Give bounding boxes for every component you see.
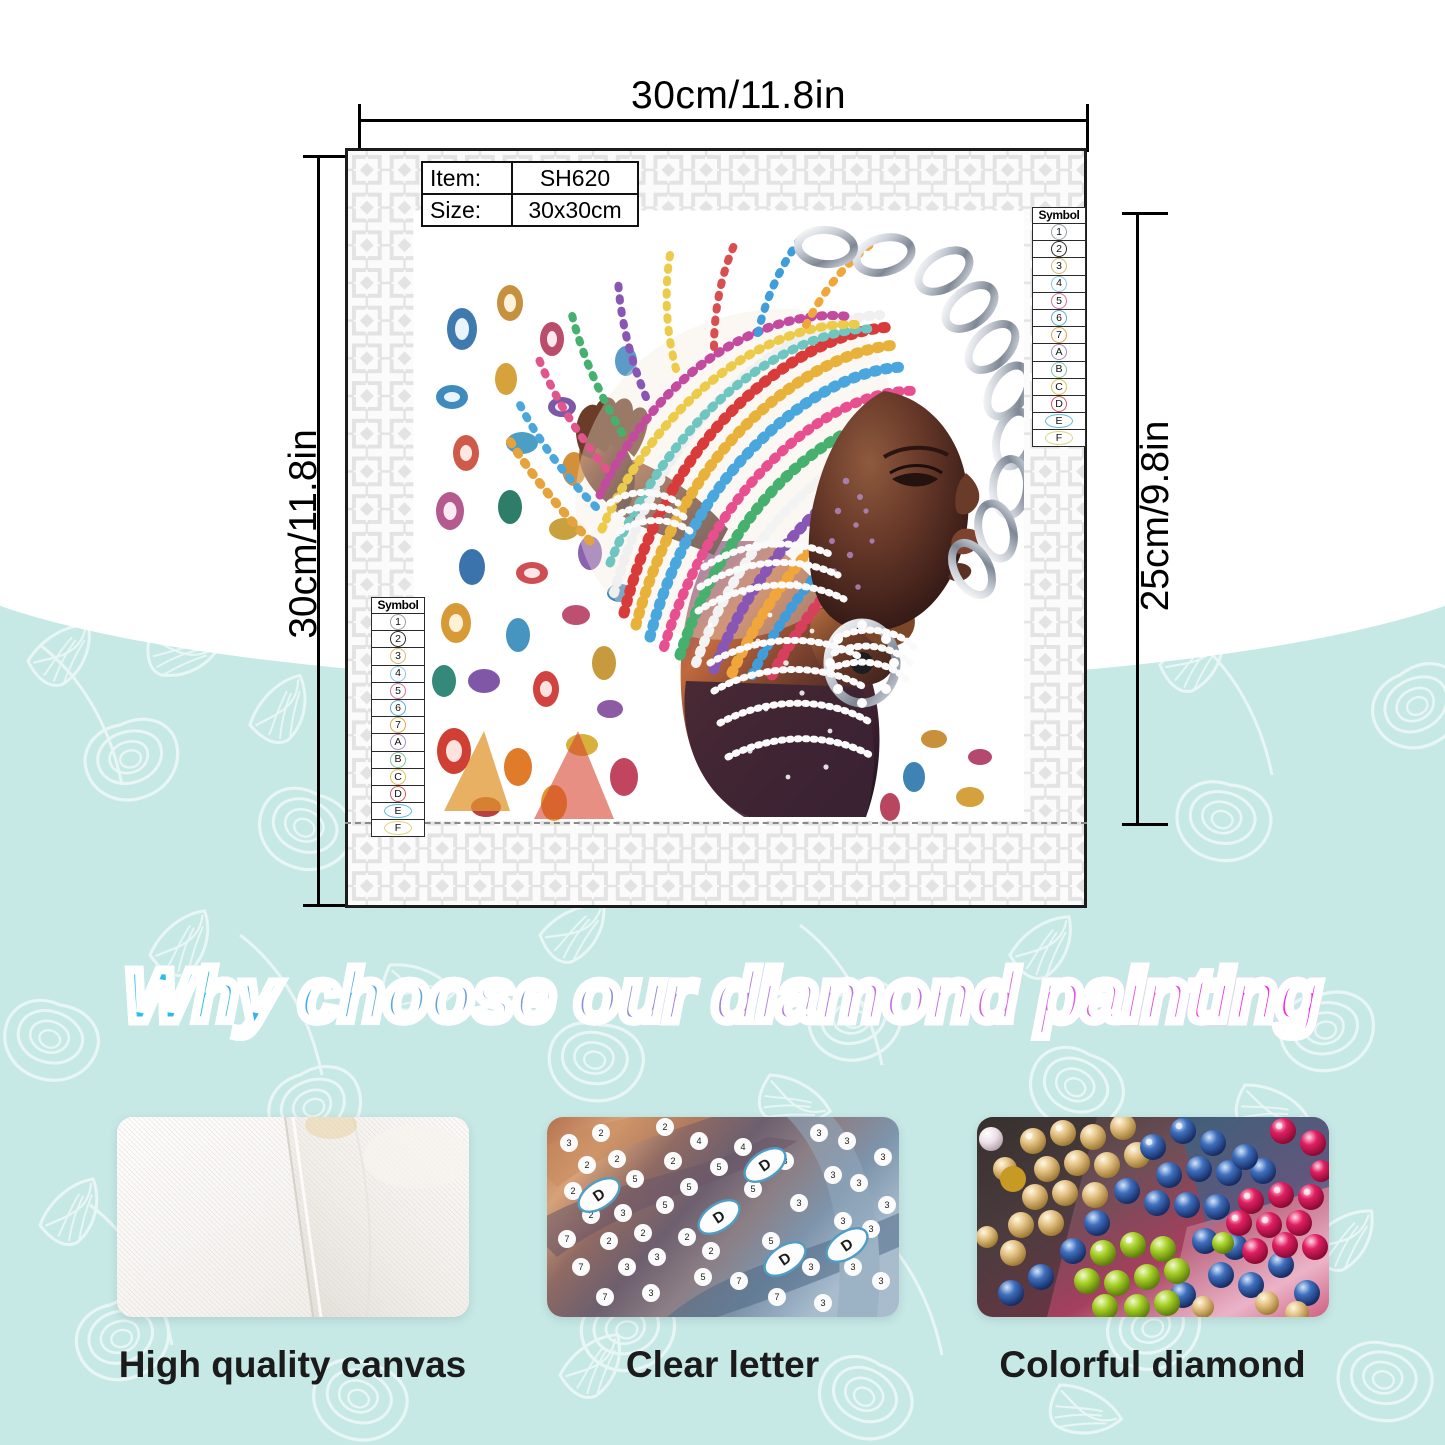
- feature-card-letter: 32 22 22 52 37 22 73 53 25 25 37 45: [547, 1117, 899, 1386]
- feature-caption: Clear letter: [547, 1344, 899, 1386]
- feature-card-diamond: Colorful diamond: [977, 1117, 1329, 1386]
- symbol-mark-c: C: [1051, 379, 1067, 395]
- symbol-legend-row: F: [1033, 430, 1085, 446]
- page-stage: 30cm/11.8in 30cm/11.8in 25cm/9.8in: [0, 0, 1445, 1445]
- symbol-mark-a: A: [1051, 344, 1067, 360]
- symbol-legend-row: 6: [1033, 310, 1085, 327]
- svg-text:2: 2: [684, 1232, 689, 1242]
- svg-text:3: 3: [884, 1200, 889, 1210]
- canvas-photo: [117, 1117, 469, 1317]
- symbol-mark-a: A: [390, 734, 406, 750]
- svg-text:3: 3: [654, 1252, 659, 1262]
- symbol-legend-bottom-left: Symbol 1234567ABCDEF: [371, 597, 425, 837]
- page-title: Why choose our diamond painting: [0, 953, 1445, 1038]
- symbol-legend-row: D: [1033, 396, 1085, 413]
- svg-text:5: 5: [750, 1184, 755, 1194]
- symbol-mark-3: 3: [390, 648, 406, 664]
- symbol-legend-row: C: [372, 769, 424, 786]
- feature-caption: High quality canvas: [117, 1344, 469, 1386]
- symbol-legend-row: 2: [372, 631, 424, 648]
- svg-text:3: 3: [830, 1170, 835, 1180]
- svg-text:3: 3: [566, 1138, 571, 1148]
- page-title-text: Why choose our diamond painting: [124, 954, 1321, 1037]
- symbol-mark-f: F: [1045, 431, 1073, 445]
- symbol-legend-row: 3: [372, 648, 424, 665]
- svg-text:2: 2: [662, 1122, 667, 1132]
- item-label: Item:: [422, 162, 512, 194]
- artwork-illustration: [414, 211, 1024, 821]
- svg-text:3: 3: [844, 1136, 849, 1146]
- svg-text:5: 5: [686, 1182, 691, 1192]
- printed-area-bottom-dashed-line: [345, 822, 1087, 824]
- dimension-label-left: 30cm/11.8in: [282, 404, 326, 664]
- canvas-sheet: Item: SH620 Size: 30x30cm: [345, 148, 1087, 908]
- symbol-mark-3: 3: [1051, 258, 1067, 274]
- svg-text:7: 7: [564, 1234, 569, 1244]
- svg-text:7: 7: [736, 1276, 741, 1286]
- symbol-legend-row: 1: [372, 614, 424, 631]
- svg-text:3: 3: [880, 1152, 885, 1162]
- symbol-legend-row: B: [1033, 362, 1085, 379]
- symbol-legend-row: 2: [1033, 241, 1085, 258]
- svg-text:3: 3: [648, 1288, 653, 1298]
- rhinestones-image: [977, 1117, 1329, 1317]
- symbol-mark-1: 1: [1051, 224, 1067, 240]
- symbol-legend-row: D: [372, 786, 424, 803]
- svg-text:7: 7: [602, 1292, 607, 1302]
- symbol-legend-row: B: [372, 752, 424, 769]
- symbol-legend-row: F: [372, 820, 424, 836]
- symbol-mark-5: 5: [390, 683, 406, 699]
- symbol-legend-row: 4: [1033, 276, 1085, 293]
- symbol-legend-top-right: Symbol 1234567ABCDEF: [1032, 207, 1086, 447]
- symbol-legend-row: E: [372, 803, 424, 820]
- symbol-legend-row: 1: [1033, 224, 1085, 241]
- canvas-fabric-image: [117, 1117, 469, 1317]
- svg-text:2: 2: [570, 1186, 575, 1196]
- svg-text:3: 3: [620, 1208, 625, 1218]
- symbol-legend-row: 5: [1033, 293, 1085, 310]
- symbol-legend-header: Symbol: [372, 598, 424, 614]
- symbol-mark-e: E: [384, 804, 412, 818]
- numbered-canvas-image: 32 22 22 52 37 22 73 53 25 25 37 45: [547, 1117, 899, 1317]
- symbol-mark-f: F: [384, 821, 412, 835]
- dimension-cap-left-bottom: [303, 904, 349, 907]
- svg-text:5: 5: [662, 1200, 667, 1210]
- clear-letter-photo: 32 22 22 52 37 22 73 53 25 25 37 45: [547, 1117, 899, 1317]
- symbol-mark-6: 6: [390, 700, 406, 716]
- symbol-mark-4: 4: [390, 666, 406, 682]
- svg-text:3: 3: [816, 1128, 821, 1138]
- symbol-legend-row: 6: [372, 700, 424, 717]
- symbol-legend-rows: 1234567ABCDEF: [372, 614, 424, 836]
- dimension-cap-top-left: [358, 104, 361, 152]
- svg-text:7: 7: [774, 1292, 779, 1302]
- svg-text:3: 3: [840, 1216, 845, 1226]
- printed-artwork: [414, 211, 1024, 821]
- dimension-cap-left-top: [303, 155, 349, 158]
- svg-text:5: 5: [700, 1272, 705, 1282]
- svg-text:7: 7: [578, 1262, 583, 1272]
- svg-text:3: 3: [868, 1224, 873, 1234]
- dimension-cap-right-bottom: [1122, 823, 1168, 826]
- symbol-mark-4: 4: [1051, 276, 1067, 292]
- svg-text:2: 2: [670, 1156, 675, 1166]
- table-row-item: Item: SH620: [422, 162, 638, 194]
- symbol-mark-7: 7: [1051, 327, 1067, 343]
- symbol-mark-b: B: [1051, 362, 1067, 378]
- symbol-legend-row: 7: [1033, 327, 1085, 344]
- table-row-size: Size: 30x30cm: [422, 194, 638, 226]
- symbol-legend-row: A: [1033, 344, 1085, 361]
- svg-text:2: 2: [614, 1154, 619, 1164]
- svg-text:3: 3: [820, 1298, 825, 1308]
- symbol-mark-d: D: [1051, 396, 1067, 412]
- svg-text:4: 4: [740, 1142, 745, 1152]
- symbol-mark-b: B: [390, 752, 406, 768]
- svg-text:3: 3: [808, 1262, 813, 1272]
- svg-text:3: 3: [856, 1178, 861, 1188]
- symbol-legend-row: E: [1033, 413, 1085, 430]
- feature-card-canvas: High quality canvas: [117, 1117, 469, 1386]
- svg-text:3: 3: [850, 1262, 855, 1272]
- symbol-mark-1: 1: [390, 614, 406, 630]
- svg-text:5: 5: [632, 1174, 637, 1184]
- svg-text:2: 2: [606, 1236, 611, 1246]
- symbol-mark-5: 5: [1051, 293, 1067, 309]
- svg-text:2: 2: [640, 1228, 645, 1238]
- svg-text:3: 3: [796, 1198, 801, 1208]
- svg-text:2: 2: [708, 1246, 713, 1256]
- feature-cards: High quality canvas: [0, 1117, 1445, 1386]
- symbol-mark-7: 7: [390, 717, 406, 733]
- symbol-mark-c: C: [390, 769, 406, 785]
- symbol-legend-row: C: [1033, 379, 1085, 396]
- dimension-line-top: [358, 119, 1089, 122]
- symbol-mark-6: 6: [1051, 310, 1067, 326]
- dimension-label-top: 30cm/11.8in: [631, 74, 846, 118]
- svg-text:2: 2: [598, 1128, 603, 1138]
- symbol-legend-row: 7: [372, 717, 424, 734]
- svg-text:2: 2: [584, 1160, 589, 1170]
- symbol-legend-rows: 1234567ABCDEF: [1033, 224, 1085, 446]
- symbol-mark-2: 2: [1051, 241, 1067, 257]
- symbol-mark-2: 2: [390, 631, 406, 647]
- svg-text:4: 4: [696, 1136, 701, 1146]
- dimension-cap-right-top: [1122, 212, 1168, 215]
- dimension-cap-top-right: [1086, 104, 1089, 152]
- feature-caption: Colorful diamond: [977, 1344, 1329, 1386]
- svg-text:5: 5: [716, 1162, 721, 1172]
- symbol-mark-e: E: [1045, 414, 1073, 428]
- svg-text:3: 3: [624, 1262, 629, 1272]
- symbol-legend-row: 5: [372, 683, 424, 700]
- size-label: Size:: [422, 194, 512, 226]
- size-value: 30x30cm: [512, 194, 638, 226]
- product-info-table: Item: SH620 Size: 30x30cm: [421, 161, 639, 227]
- item-value: SH620: [512, 162, 638, 194]
- symbol-legend-header: Symbol: [1033, 208, 1085, 224]
- colorful-diamond-photo: [977, 1117, 1329, 1317]
- symbol-mark-d: D: [390, 786, 406, 802]
- svg-text:3: 3: [878, 1276, 883, 1286]
- symbol-legend-row: A: [372, 734, 424, 751]
- svg-text:5: 5: [768, 1236, 773, 1246]
- dimension-label-right: 25cm/9.8in: [1134, 386, 1178, 646]
- symbol-legend-row: 3: [1033, 258, 1085, 275]
- symbol-legend-row: 4: [372, 666, 424, 683]
